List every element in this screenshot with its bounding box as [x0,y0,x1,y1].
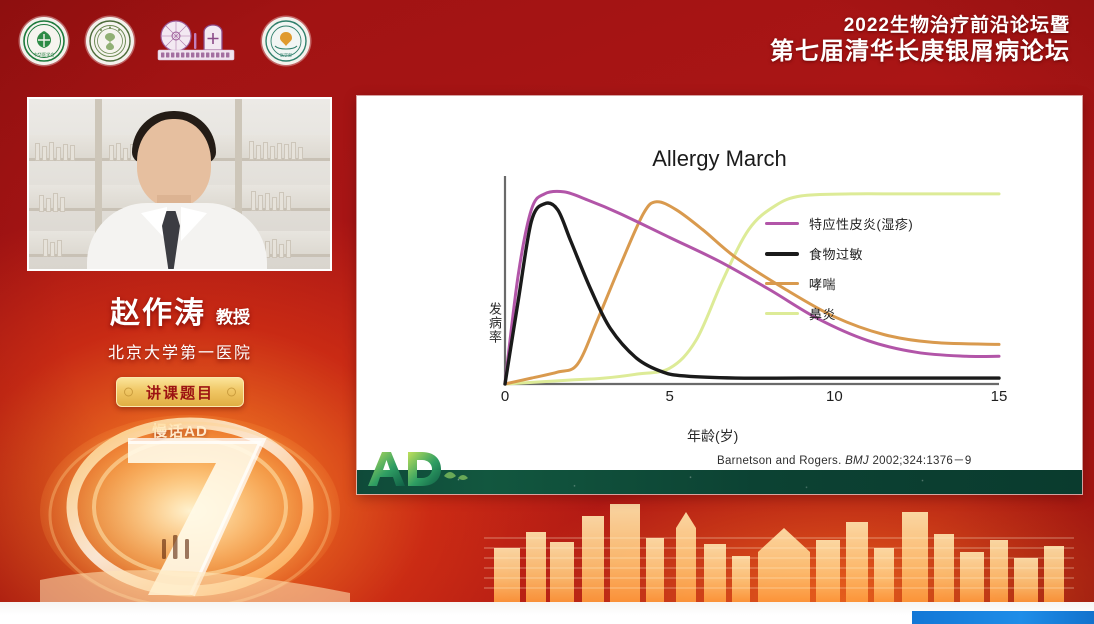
legend-label-rhinitis: 鼻炎 [809,304,836,323]
x-tick-label: 15 [991,388,1008,405]
dermatology-society-logo [86,17,134,65]
presentation-slide[interactable]: Allergy March 发病率 051015 特应性皮炎(湿疹) 食物过敏 [357,96,1082,494]
legend-item: 鼻炎 [765,304,913,323]
event-title-line1: 2022生物治疗前沿论坛暨 [770,14,1070,37]
chart-title: Allergy March [357,146,1082,172]
chart-x-axis-label: 年龄(岁) [687,426,738,446]
speaker-face [137,119,211,207]
lecture-topic-badge-label: 讲课题目 [146,382,214,403]
legend-swatch-rhinitis [765,312,799,315]
organizer-logo-row: 中华医学会 [20,16,310,66]
legend-item: 食物过敏 [765,244,913,263]
legend-item: 特应性皮炎(湿疹) [765,214,913,233]
citation-authors: Barnetson and Rogers. [717,455,842,467]
ad-watermark-logo [362,446,480,492]
chart-line-0 [505,191,999,384]
event-title: 2022生物治疗前沿论坛暨 第七届清华长庚银屑病论坛 [770,14,1070,66]
peking-university-health-logo: 医学部 [262,17,310,65]
x-tick-label: 5 [665,388,673,405]
badge-ornament-left [124,388,133,397]
legend-label-asthma: 哮喘 [809,274,836,293]
speaker-organization: 北京大学第一医院 [0,339,360,363]
bottom-blue-bar [912,611,1094,624]
city-skyline-decoration [454,482,1094,602]
legend-label-food-allergy: 食物过敏 [809,244,863,263]
badge-ornament-right [227,388,236,397]
lecture-topic-badge: 讲课题目 [116,377,244,407]
legend-item: 哮喘 [765,274,913,293]
citation-journal: BMJ [845,455,869,467]
chart-svg [477,172,1017,412]
chart-citation: Barnetson and Rogers. BMJ 2002;324:1376－… [717,452,972,468]
chart-line-2 [505,202,999,384]
svg-text:中华医学会: 中华医学会 [34,51,56,58]
legend-swatch-asthma [765,282,799,285]
speaker-video-panel[interactable] [27,97,332,271]
x-tick-label: 0 [501,388,509,405]
chart-plot-area: 051015 [477,172,1017,412]
svg-text:医学部: 医学部 [280,52,292,58]
speaker-name-row: 赵作涛 教授 [0,288,360,332]
speaker-academic-title: 教授 [216,303,250,328]
tsinghua-changgung-hospital-logo [152,16,244,66]
chart-legend: 特应性皮炎(湿疹) 食物过敏 哮喘 鼻炎 [765,214,913,323]
webinar-screen: 中华医学会 [0,0,1094,624]
legend-swatch-food-allergy [765,252,799,256]
header-bar: 中华医学会 [0,0,1094,86]
legend-label-atopic-dermatitis: 特应性皮炎(湿疹) [809,214,913,233]
chart-line-3 [505,194,999,384]
event-title-line2: 第七届清华长庚银屑病论坛 [770,37,1070,66]
legend-swatch-atopic-dermatitis [765,222,799,225]
x-tick-label: 10 [826,388,843,405]
anniversary-seven-decoration [40,415,350,615]
china-medical-association-logo: 中华医学会 [20,17,68,65]
chart-line-1 [505,203,999,384]
speaker-name: 赵作涛 [110,288,206,332]
citation-reference: 2002;324:1376－9 [872,455,971,467]
